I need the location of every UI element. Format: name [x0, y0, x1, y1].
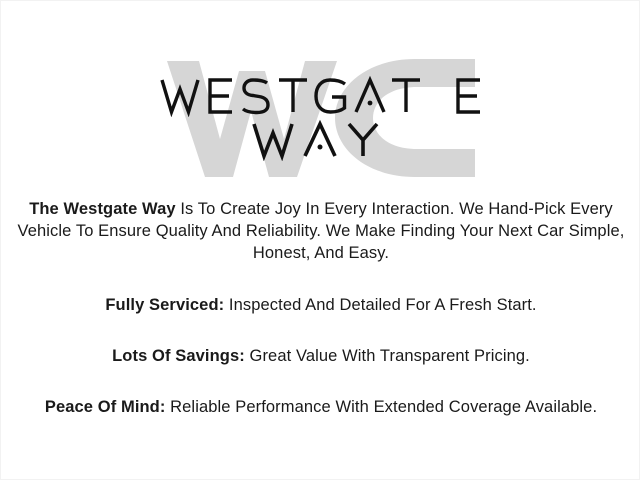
marketing-copy: The Westgate Way Is To Create Joy In Eve… — [1, 199, 640, 419]
feature-text: Reliable Performance With Extended Cover… — [165, 398, 597, 416]
feature-lots-of-savings: Lots Of Savings: Great Value With Transp… — [13, 346, 629, 368]
feature-fully-serviced: Fully Serviced: Inspected And Detailed F… — [13, 295, 629, 317]
feature-label: Lots Of Savings: — [112, 347, 245, 365]
wordmark-line-way — [251, 119, 391, 161]
feature-label: Fully Serviced: — [105, 296, 224, 314]
promo-canvas: The Westgate Way Is To Create Joy In Eve… — [0, 0, 640, 480]
feature-label: Peace Of Mind: — [45, 398, 166, 416]
intro-lead: The Westgate Way — [29, 200, 175, 218]
intro-paragraph: The Westgate Way Is To Create Joy In Eve… — [13, 199, 629, 264]
feature-text: Great Value With Transparent Pricing. — [245, 347, 530, 365]
feature-peace-of-mind: Peace Of Mind: Reliable Performance With… — [13, 397, 629, 419]
brand-logo — [1, 53, 640, 183]
wordmark-line-westgate — [159, 75, 483, 117]
westgate-way-wordmark — [1, 53, 640, 183]
feature-text: Inspected And Detailed For A Fresh Start… — [224, 296, 536, 314]
